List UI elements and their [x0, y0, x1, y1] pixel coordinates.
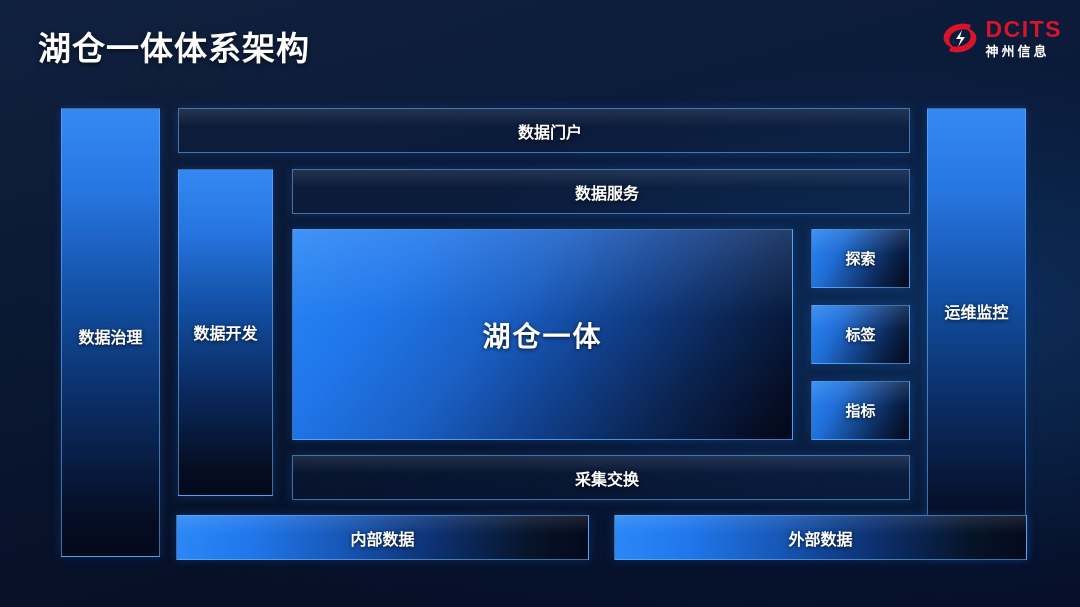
logo-name: DCITS	[986, 18, 1063, 41]
block-data-governance[interactable]: 数据治理	[61, 108, 160, 557]
block-ops-monitoring[interactable]: 运维监控	[927, 108, 1026, 557]
logo-subtitle: 神州信息	[986, 45, 1063, 58]
logo-text-block: DCITS 神州信息	[986, 18, 1063, 58]
block-label: 内部数据	[350, 526, 414, 550]
panel-sheen	[179, 170, 272, 307]
block-label: 指标	[845, 400, 875, 421]
block-data-development[interactable]: 数据开发	[178, 169, 273, 496]
slide-canvas: 湖仓一体体系架构 DCITS 神州信息 数据治理 数据开发 数据门户 数据服务 …	[0, 0, 1080, 607]
block-label: 采集交换	[575, 466, 639, 490]
block-lakehouse[interactable]: 湖仓一体	[292, 229, 793, 440]
block-label: 标签	[845, 324, 875, 345]
block-label: 数据开发	[193, 320, 257, 344]
block-label: 数据服务	[575, 180, 639, 204]
block-label: 湖仓一体	[482, 315, 602, 355]
block-label: 外部数据	[788, 526, 852, 550]
block-label: 数据门户	[518, 119, 582, 143]
block-data-service[interactable]: 数据服务	[292, 169, 910, 214]
block-label: 探索	[845, 248, 875, 269]
block-explore[interactable]: 探索	[811, 229, 910, 288]
block-label: 运维监控	[944, 299, 1008, 323]
panel-sheen	[293, 230, 792, 318]
page-title: 湖仓一体体系架构	[38, 22, 310, 70]
block-label: 数据治理	[78, 324, 142, 348]
block-metrics[interactable]: 指标	[811, 381, 910, 440]
panel-sheen	[62, 109, 159, 297]
brand-logo: DCITS 神州信息	[940, 18, 1063, 58]
block-external-data[interactable]: 外部数据	[614, 515, 1027, 560]
panel-sheen	[928, 109, 1025, 297]
block-data-portal[interactable]: 数据门户	[178, 108, 910, 153]
dcits-swoosh-icon	[940, 19, 980, 57]
block-tags[interactable]: 标签	[811, 305, 910, 364]
block-internal-data[interactable]: 内部数据	[176, 515, 589, 560]
block-collect-exchange[interactable]: 采集交换	[292, 455, 910, 500]
